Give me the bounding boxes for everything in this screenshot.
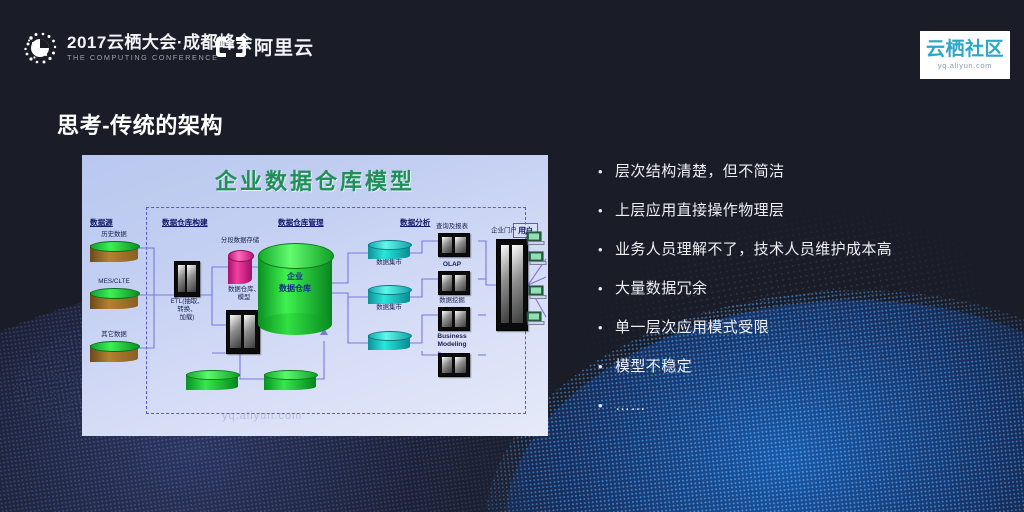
source-cylinder-other: [90, 341, 138, 362]
source-cylinder-history: [90, 241, 138, 262]
bullet-text: 模型不稳定: [615, 358, 692, 376]
analysis-icon-olap: [438, 271, 470, 295]
enterprise-warehouse-label: 企业 数据仓库: [258, 271, 332, 294]
section-header-manage: 数据仓库管理: [278, 217, 324, 228]
bullet-marker: •: [598, 163, 615, 181]
section-header-source: 数据源: [90, 217, 113, 228]
list-item: • ……: [598, 397, 1008, 415]
bullet-list: • 层次结构清楚，但不简洁 • 上层应用直接操作物理层 • 业务人员理解不了，技…: [598, 163, 1008, 436]
yunqi-url: yq.aliyun.com: [938, 62, 992, 70]
etl-label: ETL(抽取、 转换、 加载): [166, 298, 208, 322]
slide-header: 2017云栖大会·成都峰会 THE COMPUTING CONFERENCE 阿…: [0, 0, 1024, 95]
data-mart-cylinder-1: [368, 240, 410, 259]
bullet-text: 层次结构清楚，但不简洁: [615, 163, 784, 181]
analysis-label-report: 查询及报表: [422, 223, 482, 231]
source-label-history: 历史数据: [86, 231, 142, 239]
data-mart-cylinder-3: [368, 331, 410, 350]
user-pc-icon-4: [526, 311, 546, 326]
enterprise-warehouse-cylinder: 企业 数据仓库: [258, 243, 332, 335]
source-label-other: 其它数据: [86, 331, 142, 339]
list-item: • 业务人员理解不了，技术人员维护成本高: [598, 241, 1008, 259]
bullet-text: 大量数据冗余: [615, 280, 707, 298]
analysis-label-olap: OLAP: [422, 261, 482, 269]
staging-cylinder-bottom-right: [264, 370, 316, 390]
data-mart-label-1: 数据集市: [362, 259, 416, 267]
etl-server-icon: [174, 261, 200, 297]
data-mart-cylinder-2: [368, 285, 410, 304]
bullet-text: 业务人员理解不了，技术人员维护成本高: [615, 241, 892, 259]
list-item: • 单一层次应用模式受限: [598, 319, 1008, 337]
staging-cylinder-bottom-left: [186, 370, 238, 390]
list-item: • 层次结构清楚，但不简洁: [598, 163, 1008, 181]
bullet-marker: •: [598, 241, 615, 259]
portal-label: 企业门户: [478, 227, 530, 235]
modeling-server-icon: [226, 310, 260, 354]
user-pc-icon-1: [526, 231, 546, 246]
bullet-marker: •: [598, 358, 615, 376]
list-item: • 大量数据冗余: [598, 280, 1008, 298]
user-pc-icon-3: [528, 285, 548, 300]
analysis-icon-mining: [438, 307, 470, 331]
architecture-diagram: 企业数据仓库模型: [82, 155, 548, 436]
bullet-marker: •: [598, 280, 615, 298]
analysis-icon-report: [438, 233, 470, 257]
aliyun-logo: 阿里云: [215, 33, 314, 60]
analysis-label-business-modeling: Business Modeling: [420, 333, 484, 349]
bullet-marker: •: [598, 202, 615, 220]
analysis-label-mining: 数据挖掘: [422, 297, 482, 305]
data-mart-label-2: 数据集市: [362, 304, 416, 312]
bullet-marker: •: [598, 397, 615, 415]
dot-sphere-icon: [22, 30, 58, 66]
user-pc-icon-2: [528, 251, 548, 266]
aliyun-bracket-icon: [215, 36, 247, 58]
portal-server-icon: [496, 239, 528, 331]
source-cylinder-mes: [90, 288, 138, 309]
bullet-text: ……: [615, 397, 646, 415]
section-header-build: 数据仓库构建: [162, 217, 208, 228]
bullet-text: 上层应用直接操作物理层: [615, 202, 784, 220]
aliyun-name: 阿里云: [254, 33, 314, 60]
source-label-mes: MES/CLTE: [86, 278, 142, 286]
bullet-marker: •: [598, 319, 615, 337]
yunqi-name: 云栖社区: [926, 40, 1004, 59]
page-title: 思考-传统的架构: [57, 108, 223, 140]
analysis-icon-business-modeling: [438, 353, 470, 377]
diagram-title: 企业数据仓库模型: [82, 164, 548, 196]
list-item: • 模型不稳定: [598, 358, 1008, 376]
list-item: • 上层应用直接操作物理层: [598, 202, 1008, 220]
bullet-text: 单一层次应用模式受限: [615, 319, 769, 337]
yunqi-community-logo: 云栖社区 yq.aliyun.com: [920, 31, 1010, 79]
diagram-watermark: yq.aliyun.com: [222, 410, 302, 422]
staging-cylinder: [228, 250, 252, 284]
